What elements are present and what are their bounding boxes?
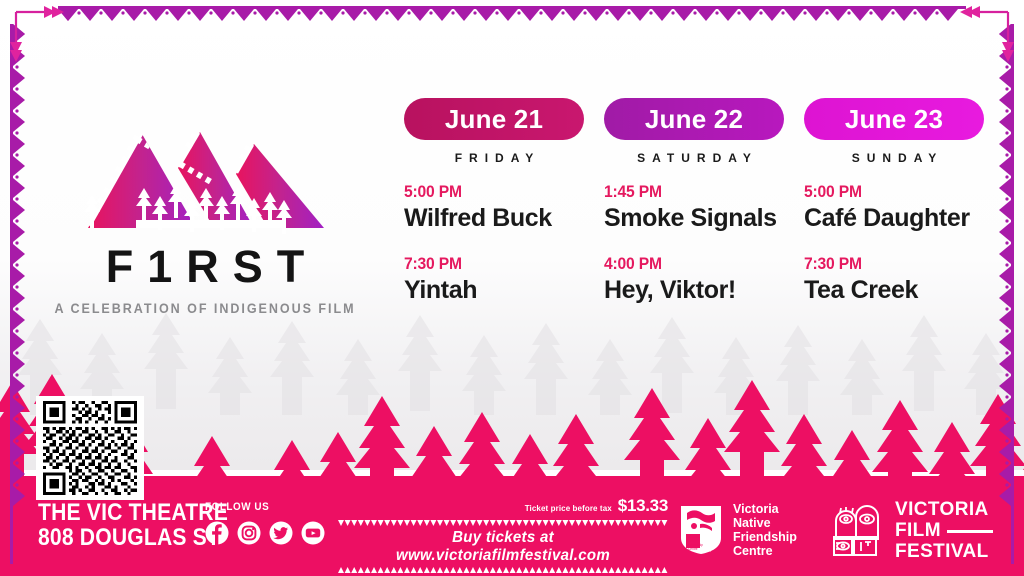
screening-time: 4:00 PM xyxy=(604,254,770,274)
schedule-day-1: June 21 FRIDAY 5:00 PM Wilfred Buck 7:30… xyxy=(404,98,584,303)
sponsor-vnfc[interactable]: VictoriaNative FriendshipCentre Victoria… xyxy=(678,502,797,558)
screening-time: 7:30 PM xyxy=(404,254,570,274)
footer: THE VIC THEATRE 808 DOUGLAS ST FOLLOW US xyxy=(0,478,1024,576)
vff-rule xyxy=(947,530,993,533)
schedule: June 21 FRIDAY 5:00 PM Wilfred Buck 7:30… xyxy=(404,98,984,303)
screening-title: Café Daughter xyxy=(804,205,984,232)
vff-line-3: FESTIVAL xyxy=(895,542,993,563)
weekday-label-saturday: SATURDAY xyxy=(604,151,784,165)
screening-title: Smoke Signals xyxy=(604,205,784,232)
schedule-day-2: June 22 SATURDAY 1:45 PM Smoke Signals 4… xyxy=(604,98,784,303)
date-pill-june-23[interactable]: June 23 xyxy=(804,98,984,140)
sponsor-vnfc-name: Victoria Native Friendship Centre xyxy=(733,502,797,558)
schedule-day-3: June 23 SUNDAY 5:00 PM Café Daughter 7:3… xyxy=(804,98,984,303)
ticket-price: $13.33 xyxy=(618,496,668,516)
festival-logo: F1RST A CELEBRATION OF INDIGENOUS FILM xyxy=(40,108,370,316)
screening-title: Tea Creek xyxy=(804,277,984,304)
twitter-icon[interactable] xyxy=(269,521,293,545)
vnfc-line-2: Native xyxy=(733,516,797,530)
sponsor-vff[interactable]: VICTORIA FILM FESTIVAL xyxy=(828,500,993,563)
venue-info: THE VIC THEATRE 808 DOUGLAS ST xyxy=(38,500,228,551)
vnfc-line-4: Centre xyxy=(733,544,797,558)
follow-us: FOLLOW US xyxy=(205,501,325,545)
vff-line-2-row: FILM xyxy=(895,521,993,542)
screening-time: 1:45 PM xyxy=(604,182,770,202)
vff-line-2: FILM xyxy=(895,521,941,542)
date-pill-june-21[interactable]: June 21 xyxy=(404,98,584,140)
screening-title: Wilfred Buck xyxy=(404,205,584,232)
screening-time: 5:00 PM xyxy=(804,182,970,202)
vff-line-1: VICTORIA xyxy=(895,500,993,521)
date-pill-june-22[interactable]: June 22 xyxy=(604,98,784,140)
vff-faces-icon xyxy=(828,503,886,559)
zigzag-bottom xyxy=(338,567,668,574)
screening-1-1[interactable]: 5:00 PM Wilfred Buck xyxy=(404,182,584,232)
screening-title: Hey, Viktor! xyxy=(604,277,784,304)
youtube-icon[interactable] xyxy=(301,521,325,545)
screening-3-1[interactable]: 5:00 PM Café Daughter xyxy=(804,182,984,232)
vnfc-crest-icon: VictoriaNative FriendshipCentre xyxy=(678,504,724,556)
screening-3-2[interactable]: 7:30 PM Tea Creek xyxy=(804,254,984,304)
follow-us-label: FOLLOW US xyxy=(205,501,313,513)
screening-1-2[interactable]: 7:30 PM Yintah xyxy=(404,254,584,304)
ticket-cta-band[interactable]: Buy tickets at www.victoriafilmfestival.… xyxy=(338,520,668,574)
screening-2-2[interactable]: 4:00 PM Hey, Viktor! xyxy=(604,254,784,304)
screening-time: 7:30 PM xyxy=(804,254,970,274)
border-top-pattern xyxy=(58,6,966,22)
instagram-icon[interactable] xyxy=(237,521,261,545)
facebook-icon[interactable] xyxy=(205,521,229,545)
festival-poster: F1RST A CELEBRATION OF INDIGENOUS FILM J… xyxy=(0,0,1024,576)
sponsor-vff-name: VICTORIA FILM FESTIVAL xyxy=(895,500,993,563)
screening-time: 5:00 PM xyxy=(404,182,570,202)
festival-tagline: A CELEBRATION OF INDIGENOUS FILM xyxy=(52,301,359,316)
weekday-label-sunday: SUNDAY xyxy=(804,151,984,165)
screening-2-1[interactable]: 1:45 PM Smoke Signals xyxy=(604,182,784,232)
festival-name: F1RST xyxy=(40,244,370,289)
price-note: Ticket price before tax xyxy=(525,504,612,513)
corner-arrow-top-right xyxy=(958,4,1018,64)
vnfc-line-3: Friendship xyxy=(733,530,797,544)
corner-arrow-top-left xyxy=(6,4,66,64)
screening-title: Yintah xyxy=(404,277,584,304)
venue-address: 808 DOUGLAS ST xyxy=(38,525,228,550)
mountain-film-strip-logo-icon xyxy=(80,108,330,238)
venue-name: THE VIC THEATRE xyxy=(38,500,228,525)
weekday-label-friday: FRIDAY xyxy=(404,151,584,165)
vnfc-line-1: Victoria xyxy=(733,502,797,516)
zigzag-top xyxy=(338,520,668,527)
social-links xyxy=(205,521,325,545)
svg-text:Centre: Centre xyxy=(688,547,698,551)
ticket-info: Ticket price before tax $13.33 Buy ticke… xyxy=(338,496,668,574)
ticket-url[interactable]: Buy tickets at www.victoriafilmfestival.… xyxy=(343,527,663,567)
price-line: Ticket price before tax $13.33 xyxy=(338,496,668,516)
